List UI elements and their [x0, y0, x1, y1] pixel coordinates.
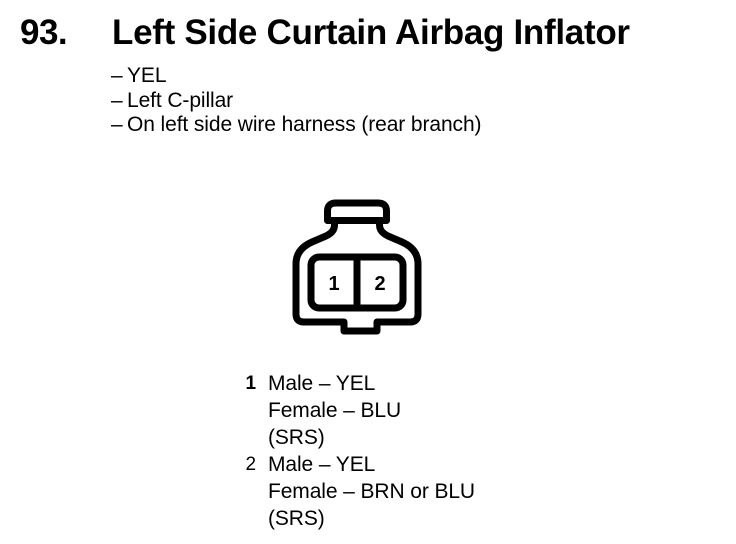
entry-number: 93. — [20, 11, 67, 55]
pin-number: 2 — [232, 451, 256, 478]
pin-entry: 2 Male – YEL Female – BRN or BLU (SRS) — [232, 451, 632, 532]
attribute-item: –On left side wire harness (rear branch) — [111, 113, 671, 138]
dash-bullet-icon: – — [111, 89, 127, 114]
pin-number: 1 — [232, 370, 256, 397]
dash-bullet-icon: – — [111, 64, 127, 89]
attribute-label: On left side wire harness (rear branch) — [127, 113, 481, 136]
attribute-item: –YEL — [111, 64, 671, 89]
entry-title: Left Side Curtain Airbag Inflator — [112, 11, 630, 55]
cavity-number-2: 2 — [374, 273, 385, 295]
attribute-label: Left C-pillar — [127, 89, 233, 112]
pin-system-row: (SRS) — [232, 505, 632, 532]
pin-entry-first-line: 2 Male – YEL — [232, 451, 632, 478]
pin-terminal-line: Female – BRN or BLU — [268, 480, 475, 503]
attribute-label: YEL — [127, 64, 166, 87]
connector-outline-icon: 1 2 — [278, 192, 436, 338]
pin-system-label: (SRS) — [268, 507, 325, 530]
pin-entry-first-line: 1 Male – YEL — [232, 370, 632, 397]
pin-system-label: (SRS) — [268, 426, 325, 449]
connector-diagram: 1 2 — [278, 192, 436, 338]
pin-terminal-row: Female – BLU — [232, 397, 632, 424]
pin-terminal-line: Female – BLU — [268, 399, 401, 422]
pin-system-row: (SRS) — [232, 424, 632, 451]
pin-legend: 1 Male – YEL Female – BLU (SRS) 2 Male –… — [232, 370, 632, 532]
attribute-item: –Left C-pillar — [111, 89, 671, 114]
entry-header: 93. Left Side Curtain Airbag Inflator — [0, 11, 736, 57]
pin-entry: 1 Male – YEL Female – BLU (SRS) — [232, 370, 632, 451]
cavity-number-1: 1 — [328, 273, 339, 295]
pin-terminal-line: Male – YEL — [268, 372, 375, 395]
dash-bullet-icon: – — [111, 113, 127, 138]
attribute-list: –YEL –Left C-pillar –On left side wire h… — [111, 64, 671, 138]
pin-terminal-line: Male – YEL — [268, 453, 375, 476]
connector-datasheet-page: 93. Left Side Curtain Airbag Inflator –Y… — [0, 0, 736, 544]
pin-terminal-row: Female – BRN or BLU — [232, 478, 632, 505]
